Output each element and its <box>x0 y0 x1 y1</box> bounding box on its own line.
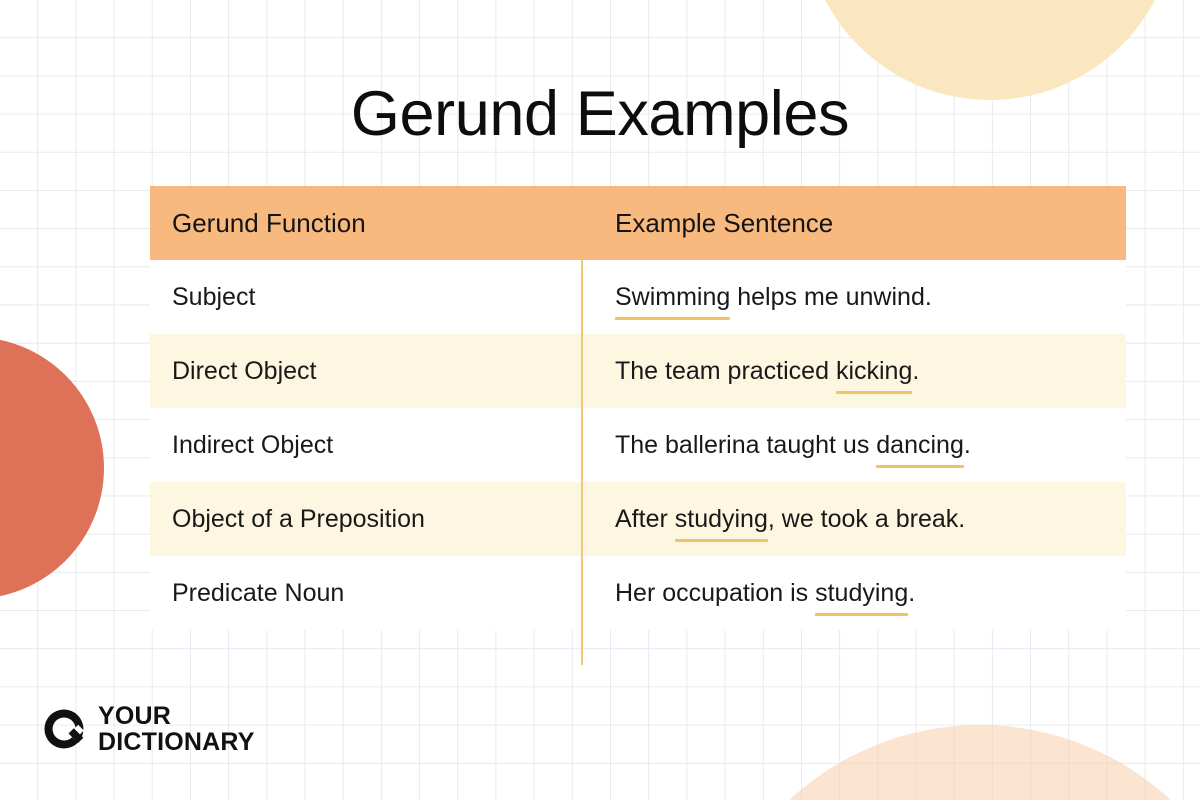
q-ring-icon <box>42 707 86 751</box>
logo-line-your: YOUR <box>98 703 255 729</box>
cell-example-sentence: Swimming helps me unwind. <box>581 281 1126 313</box>
sentence-prefix: Her occupation is <box>615 579 815 607</box>
cell-example-sentence: The ballerina taught us dancing. <box>581 429 1126 461</box>
gerund-word: dancing <box>876 429 964 461</box>
logo-wordmark: YOUR DICTIONARY <box>98 703 255 755</box>
cell-gerund-function: Direct Object <box>150 355 581 387</box>
sentence-suffix: . <box>908 579 915 607</box>
sentence-suffix: helps me unwind. <box>730 283 932 311</box>
table-row: Subject Swimming helps me unwind. <box>150 260 1126 334</box>
logo-line-dictionary: DICTIONARY <box>98 729 255 755</box>
cell-example-sentence: Her occupation is studying. <box>581 577 1126 609</box>
sentence-prefix: The ballerina taught us <box>615 431 876 459</box>
column-divider <box>581 260 583 665</box>
gerund-word: studying <box>675 503 768 535</box>
table-row: Object of a Preposition After studying, … <box>150 482 1126 556</box>
sentence-suffix: . <box>912 357 919 385</box>
cell-gerund-function: Subject <box>150 281 581 313</box>
cell-gerund-function: Object of a Preposition <box>150 503 581 535</box>
decorative-circle-bottom-right <box>700 725 1200 800</box>
table-row: Predicate Noun Her occupation is studyin… <box>150 556 1126 630</box>
gerund-word: kicking <box>836 355 912 387</box>
gerund-word: Swimming <box>615 281 730 313</box>
gerund-examples-table: Gerund Function Example Sentence Subject… <box>150 186 1126 665</box>
sentence-suffix: , we took a break. <box>768 505 965 533</box>
page-title: Gerund Examples <box>0 72 1200 156</box>
cell-gerund-function: Indirect Object <box>150 429 581 461</box>
sentence-prefix: The team practiced <box>615 357 836 385</box>
sentence-suffix: . <box>964 431 971 459</box>
infographic-canvas: Gerund Examples Gerund Function Example … <box>0 0 1200 800</box>
table-header-row: Gerund Function Example Sentence <box>150 186 1126 260</box>
cell-gerund-function: Predicate Noun <box>150 577 581 609</box>
column-header-gerund-function: Gerund Function <box>150 207 581 239</box>
cell-example-sentence: The team practiced kicking. <box>581 355 1126 387</box>
table-row: Indirect Object The ballerina taught us … <box>150 408 1126 482</box>
sentence-prefix: After <box>615 505 675 533</box>
decorative-circle-left <box>0 337 104 599</box>
yourdictionary-logo: YOUR DICTIONARY <box>42 703 255 755</box>
table-row: Direct Object The team practiced kicking… <box>150 334 1126 408</box>
cell-example-sentence: After studying, we took a break. <box>581 503 1126 535</box>
gerund-word: studying <box>815 577 908 609</box>
column-header-example-sentence: Example Sentence <box>581 207 1126 239</box>
